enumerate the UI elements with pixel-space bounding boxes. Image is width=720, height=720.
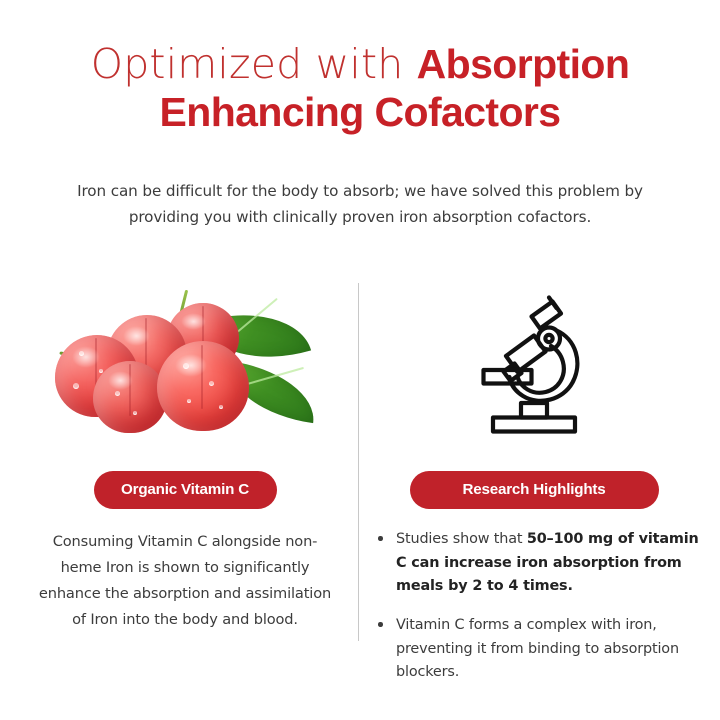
microscope-icon: [459, 291, 609, 441]
headline-line-1: Optimized with Absorption: [0, 44, 720, 86]
column-vitamin-c: Organic Vitamin C Consuming Vitamin C al…: [20, 283, 350, 633]
bullet-dot-icon: [378, 622, 383, 627]
headline-light-text: Optimized with: [91, 40, 417, 88]
research-bullet-list: Studies show that 50–100 mg of vitamin C…: [368, 528, 700, 684]
cherries-image: [20, 283, 350, 449]
subheading-text: Iron can be difficult for the body to ab…: [50, 178, 670, 230]
bullet-dot-icon: [378, 536, 383, 541]
badge-organic-vitamin-c[interactable]: Organic Vitamin C: [94, 471, 277, 509]
badge-row-right: Research Highlights: [368, 471, 700, 509]
infographic-page: Optimized with Absorption Enhancing Cofa…: [0, 0, 720, 720]
headline-bold-text-2: Enhancing Cofactors: [160, 89, 561, 135]
bullet-lead-text: Vitamin C forms a complex with iron, pre…: [396, 617, 679, 680]
headline-line-2: Enhancing Cofactors: [0, 92, 720, 134]
cherry-icon: [157, 341, 249, 431]
vitamin-c-body-text: Consuming Vitamin C alongside non-heme I…: [20, 529, 350, 633]
microscope-image: [368, 283, 700, 449]
column-research: Research Highlights Studies show that 50…: [368, 283, 700, 700]
page-title: Optimized with Absorption Enhancing Cofa…: [0, 44, 720, 134]
list-item: Studies show that 50–100 mg of vitamin C…: [368, 528, 700, 598]
headline-bold-text-1: Absorption: [417, 41, 630, 87]
acerola-cherries-illustration: [49, 287, 321, 445]
column-divider: [358, 283, 359, 641]
bullet-lead-text: Studies show that: [396, 531, 527, 547]
cherry-icon: [93, 361, 167, 433]
list-item: Vitamin C forms a complex with iron, pre…: [368, 614, 700, 684]
badge-research-highlights[interactable]: Research Highlights: [410, 471, 659, 509]
badge-row-left: Organic Vitamin C: [20, 471, 350, 509]
